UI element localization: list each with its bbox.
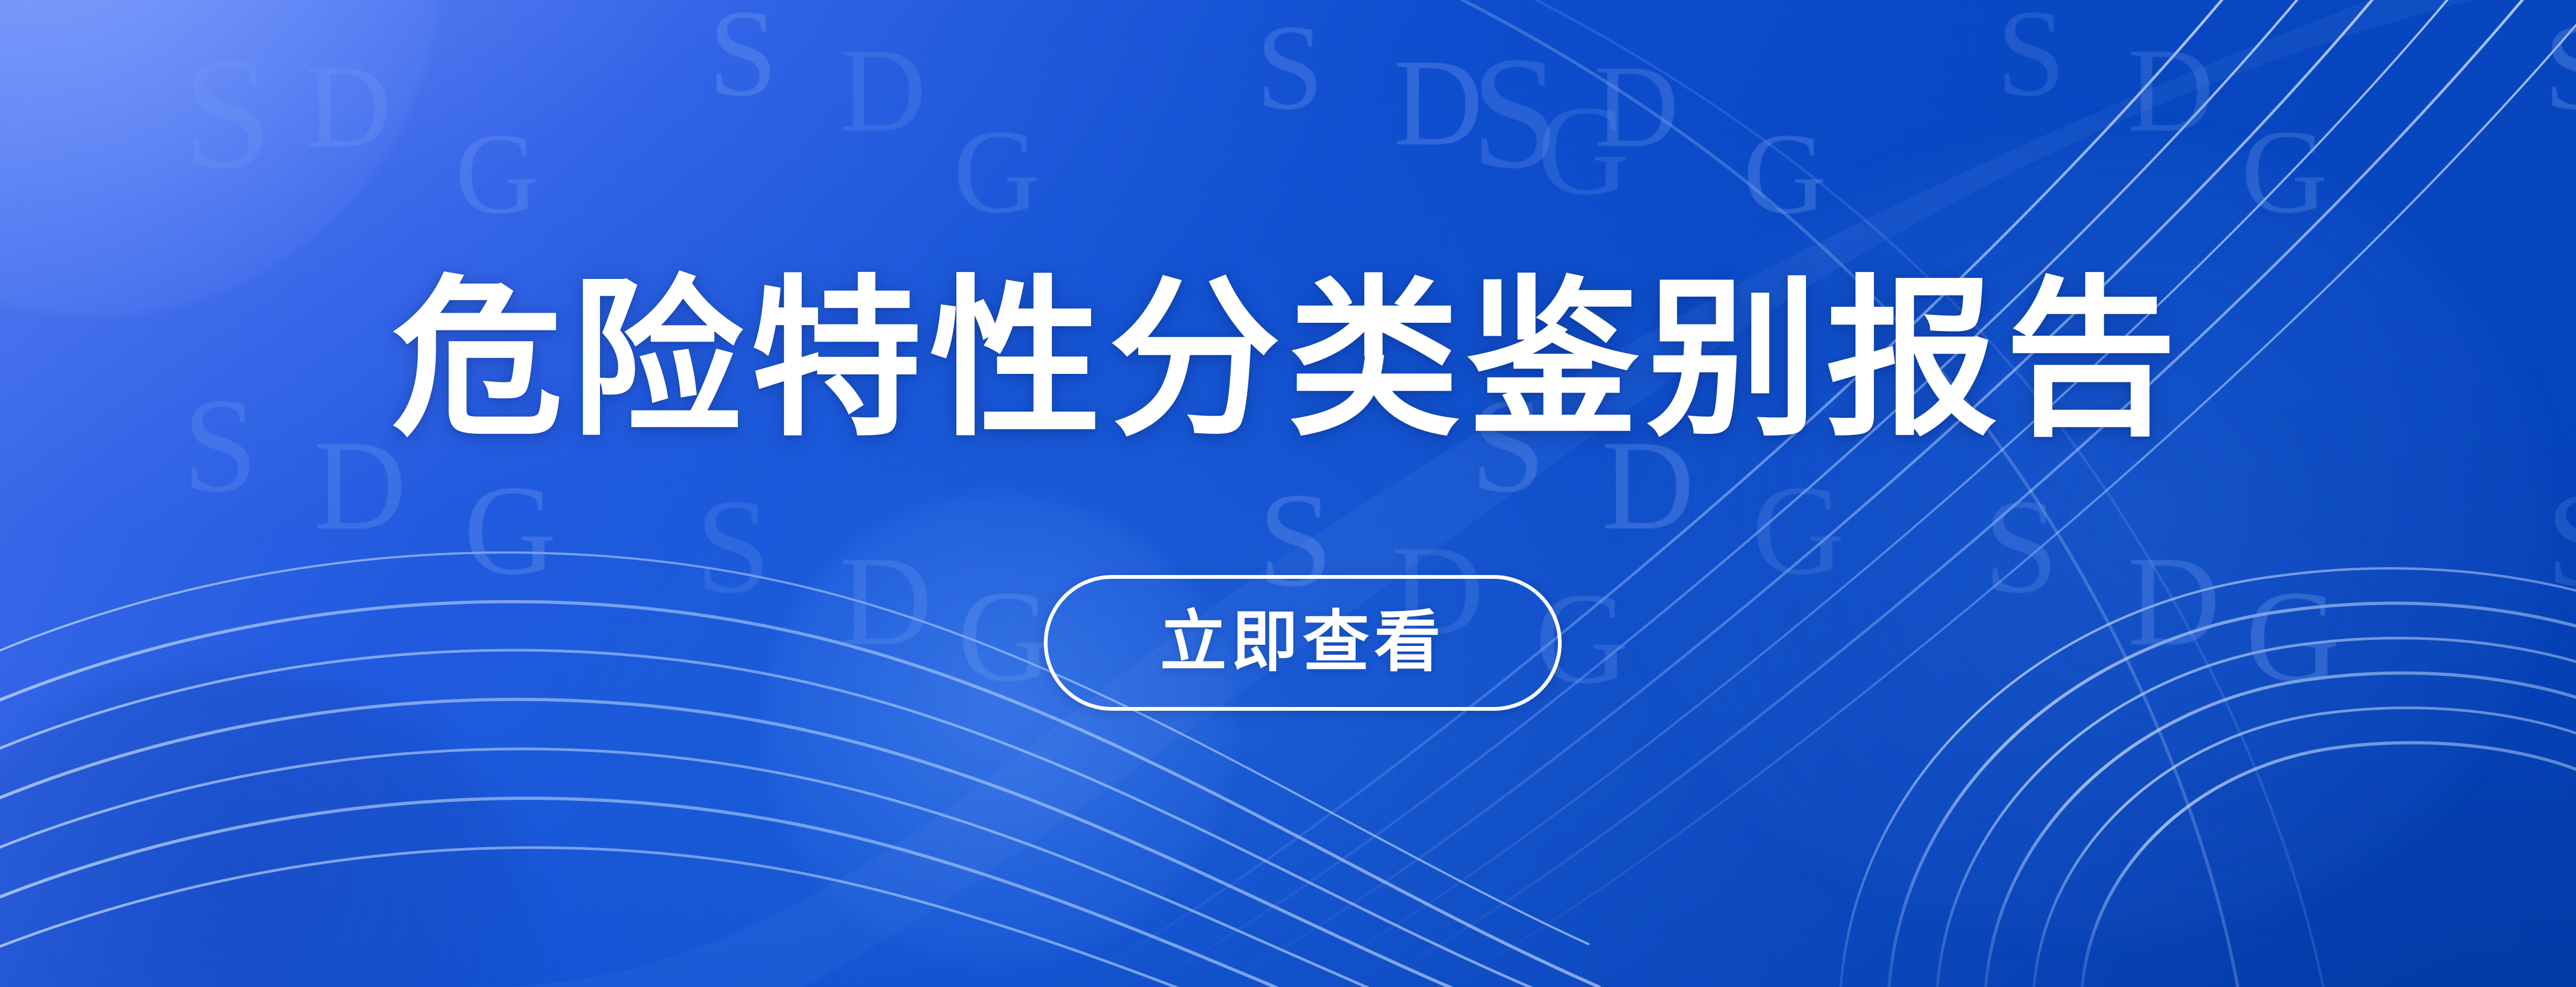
decor-top-arc <box>1374 0 2329 987</box>
banner-title: 危险特性分类鉴别报告 <box>392 267 2184 453</box>
title-block: 危险特性分类鉴别报告 <box>0 267 2576 453</box>
decor-diagonal-streaks <box>1068 0 2576 987</box>
view-now-button-label: 立即查看 <box>1160 609 1445 675</box>
promo-banner: SDGSDGSDGSDGSDGSDGSDGSDGSDGSDGSDGSDG 危险特… <box>0 0 2576 987</box>
decor-corner-arcs <box>1841 569 2576 987</box>
view-now-button[interactable]: 立即查看 <box>1044 575 1562 711</box>
decor-lines-layer <box>0 0 2576 987</box>
decor-soft-band <box>483 0 2576 987</box>
